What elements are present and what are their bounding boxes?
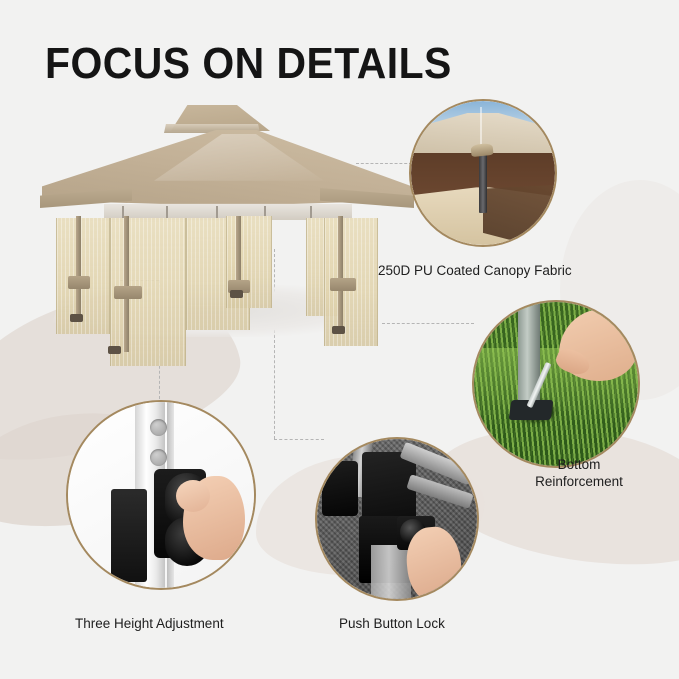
product-gazebo-image (34, 100, 424, 350)
callout-push-button-image (317, 439, 477, 599)
callout-canopy-fabric-image (411, 101, 555, 245)
callout-bottom-reinforcement (472, 300, 640, 468)
height-hole-upper (150, 419, 167, 436)
callout-canopy-fabric (409, 99, 557, 247)
black-bracket (111, 489, 147, 582)
leg-tie-right (330, 278, 356, 291)
callout-label-bottom-reinforcement: Bottom Reinforcement (514, 456, 644, 491)
gazebo-foot-right (332, 326, 345, 334)
callout-push-button-lock (315, 437, 479, 601)
thumb-tip (176, 480, 210, 512)
leg-tie-front (114, 286, 142, 299)
callout-label-three-height-adjustment: Three Height Adjustment (75, 615, 224, 632)
gazebo-foot-center (230, 290, 243, 298)
gazebo-leg-left (76, 216, 81, 320)
gazebo-foot-front (108, 346, 121, 354)
gazebo-leg-right (338, 216, 343, 332)
callout-bottom-reinforcement-image (474, 302, 638, 466)
canopy-corner-pole (479, 150, 487, 213)
height-hole-lower (150, 449, 167, 466)
callout-height-adjust-image (68, 402, 254, 588)
page-title: FOCUS ON DETAILS (45, 41, 452, 87)
leg-tie-left (68, 276, 90, 289)
callout-label-canopy-fabric: 250D PU Coated Canopy Fabric (378, 262, 572, 279)
callout-three-height-adjustment (66, 400, 256, 590)
infographic-canvas: FOCUS ON DETAILS (0, 0, 679, 679)
gazebo-leg-front (124, 216, 129, 352)
leg-bottom-section (371, 545, 411, 599)
callout-label-push-button-lock: Push Button Lock (339, 615, 445, 632)
gazebo-foot-left (70, 314, 83, 322)
truss-hub-left (322, 461, 358, 515)
